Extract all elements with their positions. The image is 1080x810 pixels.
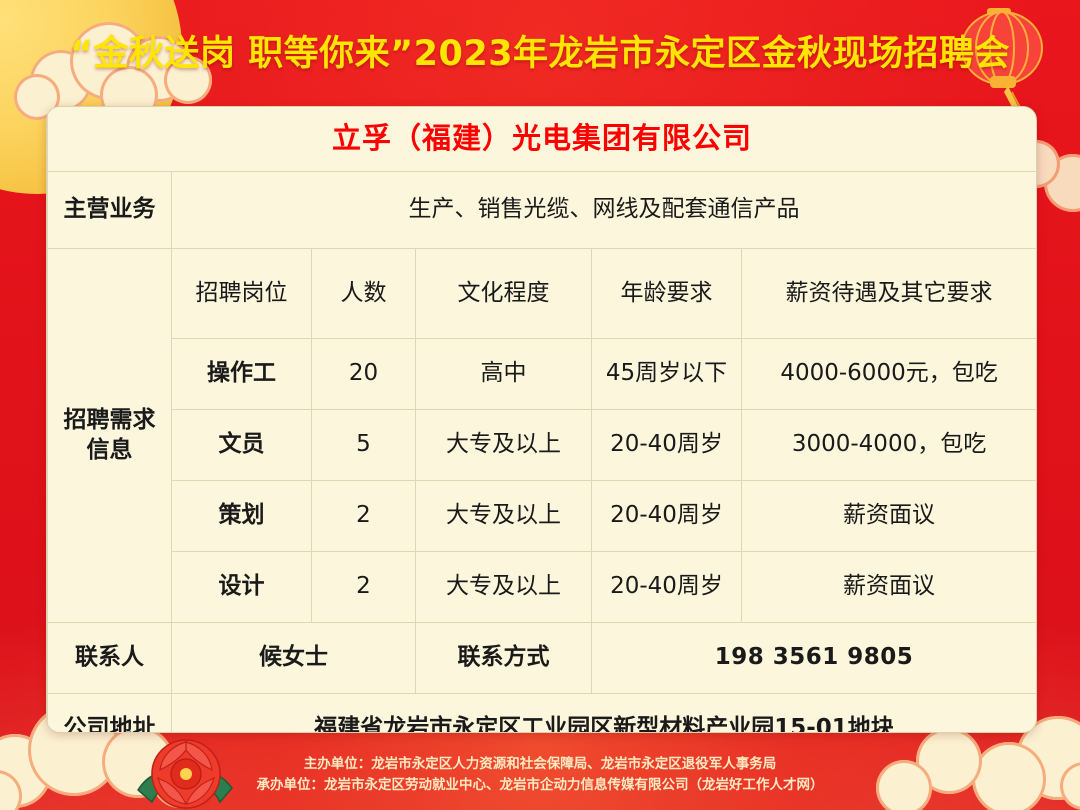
job-salary: 薪资面议 — [742, 481, 1037, 552]
job-age: 20-40周岁 — [592, 410, 742, 481]
address-value: 福建省龙岩市永定区工业园区新型材料产业园15-01地块 — [172, 694, 1037, 734]
table-row-contact: 联系人 候女士 联系方式 198 3561 9805 — [48, 623, 1037, 694]
contact-method-value[interactable]: 198 3561 9805 — [592, 623, 1037, 694]
column-header-salary: 薪资待遇及其它要求 — [742, 249, 1037, 339]
business-value: 生产、销售光缆、网线及配套通信产品 — [172, 172, 1037, 249]
column-header-education: 文化程度 — [416, 249, 592, 339]
job-count: 5 — [312, 410, 416, 481]
column-header-count: 人数 — [312, 249, 416, 339]
job-education: 高中 — [416, 339, 592, 410]
job-age: 20-40周岁 — [592, 481, 742, 552]
job-position: 策划 — [172, 481, 312, 552]
contact-method-label: 联系方式 — [416, 623, 592, 694]
recruitment-table: 立孚（福建）光电集团有限公司 主营业务 生产、销售光缆、网线及配套通信产品 招聘… — [47, 107, 1037, 733]
job-education: 大专及以上 — [416, 552, 592, 623]
table-row-business: 主营业务 生产、销售光缆、网线及配套通信产品 — [48, 172, 1037, 249]
table-row-column-headers: 招聘需求信息 招聘岗位 人数 文化程度 年龄要求 薪资待遇及其它要求 — [48, 249, 1037, 339]
recruitment-poster: “金秋送岗 职等你来”2023年龙岩市永定区金秋现场招聘会 立孚（福建）光电集团… — [0, 0, 1080, 810]
job-position: 设计 — [172, 552, 312, 623]
column-header-position: 招聘岗位 — [172, 249, 312, 339]
job-count: 20 — [312, 339, 416, 410]
business-label: 主营业务 — [48, 172, 172, 249]
job-position: 文员 — [172, 410, 312, 481]
contact-person-label: 联系人 — [48, 623, 172, 694]
job-count: 2 — [312, 552, 416, 623]
job-education: 大专及以上 — [416, 410, 592, 481]
company-name: 立孚（福建）光电集团有限公司 — [332, 121, 752, 155]
footer: 主办单位：龙岩市永定区人力资源和社会保障局、龙岩市永定区退役军人事务局 承办单位… — [0, 754, 1080, 796]
job-education: 大专及以上 — [416, 481, 592, 552]
job-salary: 薪资面议 — [742, 552, 1037, 623]
footer-coorganizer-line: 承办单位：龙岩市永定区劳动就业中心、龙岩市企动力信息传媒有限公司（龙岩好工作人才… — [0, 775, 1080, 796]
job-age: 20-40周岁 — [592, 552, 742, 623]
table-row-company: 立孚（福建）光电集团有限公司 — [48, 107, 1037, 172]
page-title: “金秋送岗 职等你来”2023年龙岩市永定区金秋现场招聘会 — [70, 25, 1010, 76]
poster-title-bar: “金秋送岗 职等你来”2023年龙岩市永定区金秋现场招聘会 — [0, 18, 1080, 82]
job-age: 45周岁以下 — [592, 339, 742, 410]
table-row-job: 文员 5 大专及以上 20-40周岁 3000-4000，包吃 — [48, 410, 1037, 481]
column-header-age: 年龄要求 — [592, 249, 742, 339]
table-row-job: 设计 2 大专及以上 20-40周岁 薪资面议 — [48, 552, 1037, 623]
address-label: 公司地址 — [48, 694, 172, 734]
demand-label: 招聘需求信息 — [48, 249, 172, 623]
job-salary: 3000-4000，包吃 — [742, 410, 1037, 481]
table-row-address: 公司地址 福建省龙岩市永定区工业园区新型材料产业园15-01地块 — [48, 694, 1037, 734]
job-salary: 4000-6000元，包吃 — [742, 339, 1037, 410]
footer-organizer-line: 主办单位：龙岩市永定区人力资源和社会保障局、龙岩市永定区退役军人事务局 — [0, 754, 1080, 775]
contact-person-value: 候女士 — [172, 623, 416, 694]
table-row-job: 策划 2 大专及以上 20-40周岁 薪资面议 — [48, 481, 1037, 552]
table-row-job: 操作工 20 高中 45周岁以下 4000-6000元，包吃 — [48, 339, 1037, 410]
info-card: 立孚（福建）光电集团有限公司 主营业务 生产、销售光缆、网线及配套通信产品 招聘… — [46, 106, 1037, 733]
job-position: 操作工 — [172, 339, 312, 410]
job-count: 2 — [312, 481, 416, 552]
